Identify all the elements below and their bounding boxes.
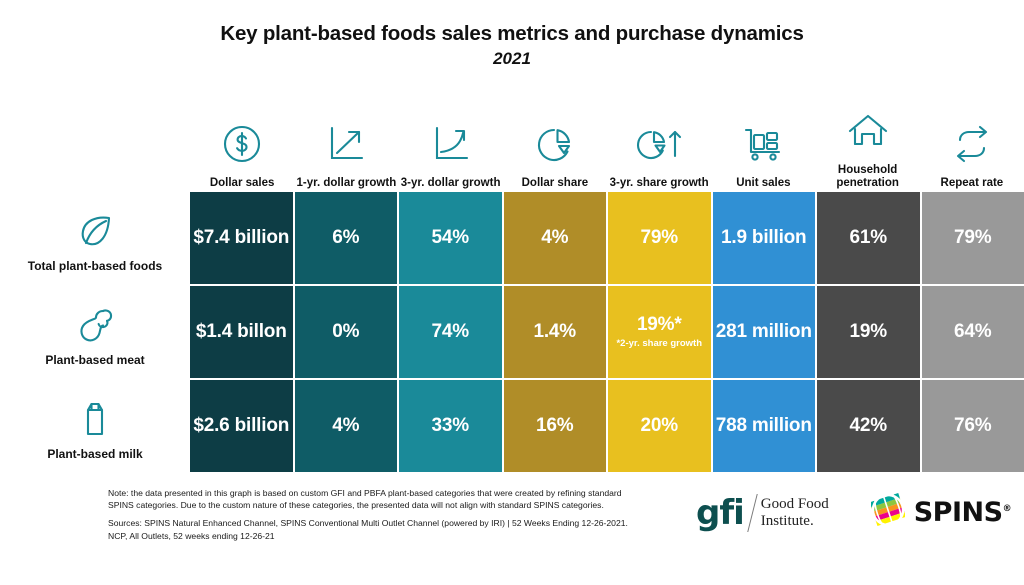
cell-value: 33% — [432, 415, 469, 436]
table-cell: 19%* *2-yr. share growth — [608, 286, 713, 378]
pie-chart-arrow-icon — [633, 118, 685, 170]
column-header-dollar-sales: Dollar sales — [190, 92, 294, 192]
row-label-plant-based-milk: Plant-based milk — [0, 380, 190, 472]
spins-name: SPINS — [914, 497, 1003, 528]
cell-value: 6% — [332, 227, 359, 248]
table-cell: $2.6 billion — [190, 380, 295, 472]
column-header-3yr-dollar-growth: 3-yr. dollar growth — [399, 92, 503, 192]
spins-wordmark: SPINS® — [914, 497, 1011, 528]
logo-group: gfi Good Food Institute. — [648, 487, 1018, 532]
gfi-wordmark: gfi — [696, 496, 744, 530]
spins-logo: SPINS® — [871, 493, 1011, 532]
table-cell: $1.4 billon — [190, 286, 295, 378]
house-icon — [844, 105, 892, 157]
column-header-label: Repeat rate — [941, 177, 1004, 190]
table-cell: 76% — [922, 380, 1024, 472]
table-cell: 281 million — [713, 286, 818, 378]
cell-value: 76% — [954, 415, 991, 436]
table-cell: 788 million — [713, 380, 818, 472]
cell-value: 788 million — [716, 415, 812, 436]
table-row: Total plant-based foods $7.4 billion 6% … — [0, 192, 1024, 284]
cell-value: 79% — [954, 227, 991, 248]
page-subtitle: 2021 — [0, 49, 1024, 69]
row-label-text: Total plant-based foods — [28, 260, 162, 274]
table-row: Plant-based meat $1.4 billon 0% 74% 1.4%… — [0, 286, 1024, 378]
leaf-icon — [73, 203, 117, 251]
column-header-label: 3-yr. share growth — [610, 177, 709, 190]
table-cell: 4% — [504, 192, 609, 284]
cell-value: 281 million — [716, 321, 812, 342]
cell-value: 1.4% — [533, 321, 576, 342]
cell-value: 1.9 billion — [721, 227, 806, 248]
drumstick-icon — [72, 297, 118, 345]
cart-boxes-icon — [738, 118, 788, 170]
cell-value: 19%* — [637, 314, 682, 335]
cell-value: $1.4 billon — [196, 321, 287, 342]
column-header-label: Unit sales — [736, 177, 790, 190]
gfi-name: Good Food Institute. — [761, 496, 829, 528]
table-cell: $7.4 billion — [190, 192, 295, 284]
pie-chart-icon — [532, 118, 578, 170]
cell-value: 61% — [850, 227, 887, 248]
spins-registered-mark: ® — [1003, 504, 1012, 514]
arrow-up-right-chart-icon — [323, 118, 369, 170]
row-label-plant-based-meat: Plant-based meat — [0, 286, 190, 378]
table-cell: 6% — [295, 192, 400, 284]
table-cell: 79% — [922, 192, 1024, 284]
dollar-circle-icon — [219, 118, 265, 170]
table-cell: 64% — [922, 286, 1024, 378]
title-block: Key plant-based foods sales metrics and … — [0, 0, 1024, 69]
footer: Note: the data presented in this graph i… — [108, 487, 1018, 542]
cell-value: 64% — [954, 321, 991, 342]
table-cell: 61% — [817, 192, 922, 284]
column-header-label: Household penetration — [816, 164, 920, 190]
cell-value: 54% — [432, 227, 469, 248]
table-cell: 1.9 billion — [713, 192, 818, 284]
spins-globe-icon — [871, 493, 905, 532]
row-label-text: Plant-based meat — [45, 354, 144, 368]
table-cell: 74% — [399, 286, 504, 378]
cell-value: 19% — [850, 321, 887, 342]
cell-value: $7.4 billion — [193, 227, 289, 248]
gfi-name-line1: Good Food — [761, 496, 829, 512]
gfi-name-line2: Institute. — [761, 513, 829, 529]
curve-up-chart-icon — [428, 118, 474, 170]
table-cell: 79% — [608, 192, 713, 284]
column-header-row: Dollar sales 1-yr. dollar growth — [0, 92, 1024, 192]
cell-value: 4% — [541, 227, 568, 248]
cell-value: $2.6 billion — [193, 415, 289, 436]
table-cell: 33% — [399, 380, 504, 472]
table-cell: 54% — [399, 192, 504, 284]
methodology-note: Note: the data presented in this graph i… — [108, 487, 648, 511]
row-label-text: Plant-based milk — [47, 448, 142, 462]
page-title: Key plant-based foods sales metrics and … — [0, 22, 1024, 46]
sources-note: Sources: SPINS Natural Enhanced Channel,… — [108, 517, 648, 541]
column-header-label: Dollar sales — [210, 177, 275, 190]
column-header-label: 1-yr. dollar growth — [297, 177, 397, 190]
column-header-3yr-share-growth: 3-yr. share growth — [607, 92, 711, 192]
cell-value: 74% — [432, 321, 469, 342]
cell-footnote: *2-yr. share growth — [616, 339, 702, 350]
column-header-1yr-dollar-growth: 1-yr. dollar growth — [294, 92, 398, 192]
column-header-repeat-rate: Repeat rate — [920, 92, 1024, 192]
column-header-household-penetration: Household penetration — [816, 92, 920, 192]
table-cell: 0% — [295, 286, 400, 378]
column-header-unit-sales: Unit sales — [711, 92, 815, 192]
cell-value: 4% — [332, 415, 359, 436]
gfi-logo: gfi Good Food Institute. — [696, 494, 829, 532]
corner-spacer — [0, 92, 190, 192]
table-cell: 20% — [608, 380, 713, 472]
row-label-total-plant-based-foods: Total plant-based foods — [0, 192, 190, 284]
footnotes: Note: the data presented in this graph i… — [108, 487, 648, 542]
table-cell: 4% — [295, 380, 400, 472]
cell-value: 79% — [641, 227, 678, 248]
column-header-label: 3-yr. dollar growth — [401, 177, 501, 190]
repeat-arrows-icon — [948, 118, 996, 170]
cell-value: 16% — [536, 415, 573, 436]
table-cell: 1.4% — [504, 286, 609, 378]
cell-value: 20% — [641, 415, 678, 436]
infographic-canvas: Key plant-based foods sales metrics and … — [0, 0, 1024, 585]
logo-divider — [747, 494, 757, 532]
cell-value: 42% — [850, 415, 887, 436]
column-header-dollar-share: Dollar share — [503, 92, 607, 192]
milk-carton-icon — [75, 391, 115, 439]
table-row: Plant-based milk $2.6 billion 4% 33% 16%… — [0, 380, 1024, 472]
table-cell: 42% — [817, 380, 922, 472]
column-header-label: Dollar share — [522, 177, 588, 190]
table-cell: 19% — [817, 286, 922, 378]
cell-value: 0% — [332, 321, 359, 342]
table-cell: 16% — [504, 380, 609, 472]
metrics-matrix: Dollar sales 1-yr. dollar growth — [0, 92, 1024, 472]
